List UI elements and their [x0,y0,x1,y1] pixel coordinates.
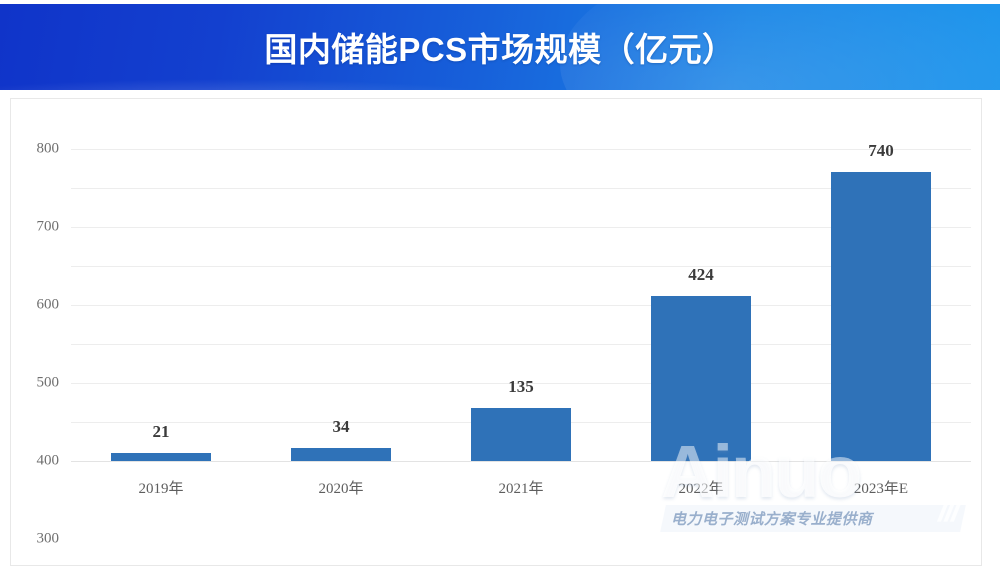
watermark-tagline-text: 电力电子测试方案专业提供商 [671,508,961,529]
x-axis-tick-label: 2023年E [854,477,908,498]
y-axis-tick-label: 400 [37,453,60,470]
y-axis-tick-label: 300 [37,531,60,548]
watermark-tagline-bar [660,505,966,532]
y-axis-tick-label: 500 [37,375,60,392]
gridline: 800 [71,149,971,150]
x-axis-tick-label: 2020年 [318,477,363,498]
watermark-slashes: /// [935,491,963,530]
page-title: 国内储能PCS市场规模（亿元） [0,4,1000,90]
y-axis-tick-label: 800 [37,141,60,158]
bar-value-label: 424 [688,265,714,285]
plot-area: 0100200300400500600700800212019年342020年1… [71,149,971,461]
chart-container: 0100200300400500600700800212019年342020年1… [10,98,982,566]
y-axis-tick-label: 700 [37,219,60,236]
bar-value-label: 34 [333,417,350,437]
bar-2021年[interactable]: 1352021年 [471,408,571,461]
x-axis-tick-label: 2019年 [138,477,183,498]
x-axis-tick-label: 2021年 [498,477,543,498]
bar-value-label: 740 [868,141,894,161]
bar-value-label: 21 [153,422,170,442]
x-axis-tick-label: 2022年 [678,477,723,498]
bar-value-label: 135 [508,377,534,397]
bar-2020年[interactable]: 342020年 [291,448,391,461]
title-banner: 国内储能PCS市场规模（亿元） [0,4,1000,90]
bar-2022年[interactable]: 4242022年 [651,296,751,461]
gridline: 0 [71,461,971,462]
y-axis-tick-label: 600 [37,297,60,314]
bar-2023年E[interactable]: 7402023年E [831,172,931,461]
bar-2019年[interactable]: 212019年 [111,453,211,461]
chart-page: 国内储能PCS市场规模（亿元） 010020030040050060070080… [0,0,1000,580]
